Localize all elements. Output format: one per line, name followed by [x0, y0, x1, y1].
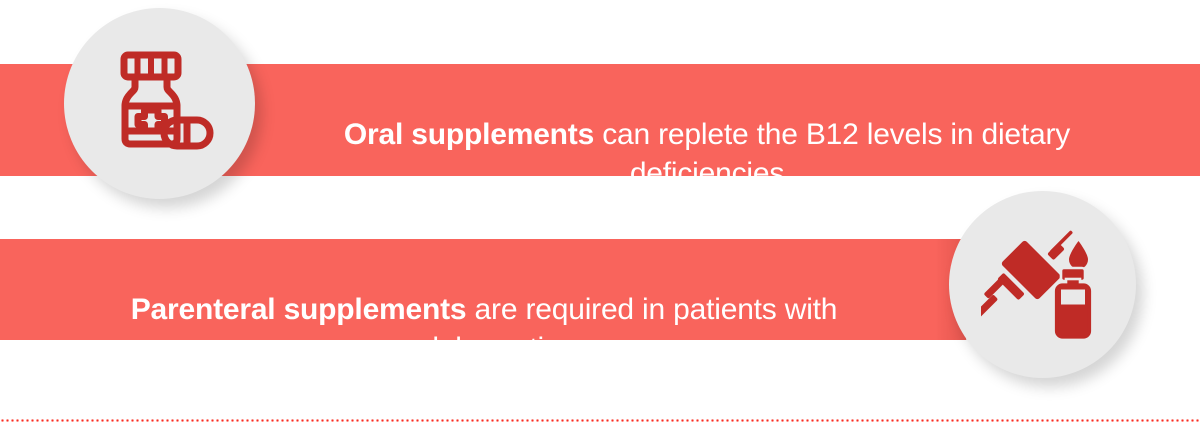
band-text-lead-parenteral: Parenteral supplements: [131, 293, 467, 326]
pill-bottle-icon: [102, 46, 218, 162]
syringe-vial-icon: [981, 223, 1105, 347]
band-text-oral-supplements: Oral supplements can replete the B12 lev…: [268, 78, 1146, 193]
band-text-lead-oral: Oral supplements: [344, 118, 594, 151]
band-text-rest-oral: can replete the B12 levels in dietary de…: [594, 118, 1070, 189]
dotted-divider: [0, 419, 1200, 422]
badge-syringe-vial: [949, 191, 1136, 378]
infographic-canvas: Oral supplements can replete the B12 lev…: [0, 0, 1200, 437]
badge-pill-bottle: [64, 8, 255, 199]
band-text-parenteral-supplements: Parenteral supplements are required in p…: [56, 253, 912, 368]
